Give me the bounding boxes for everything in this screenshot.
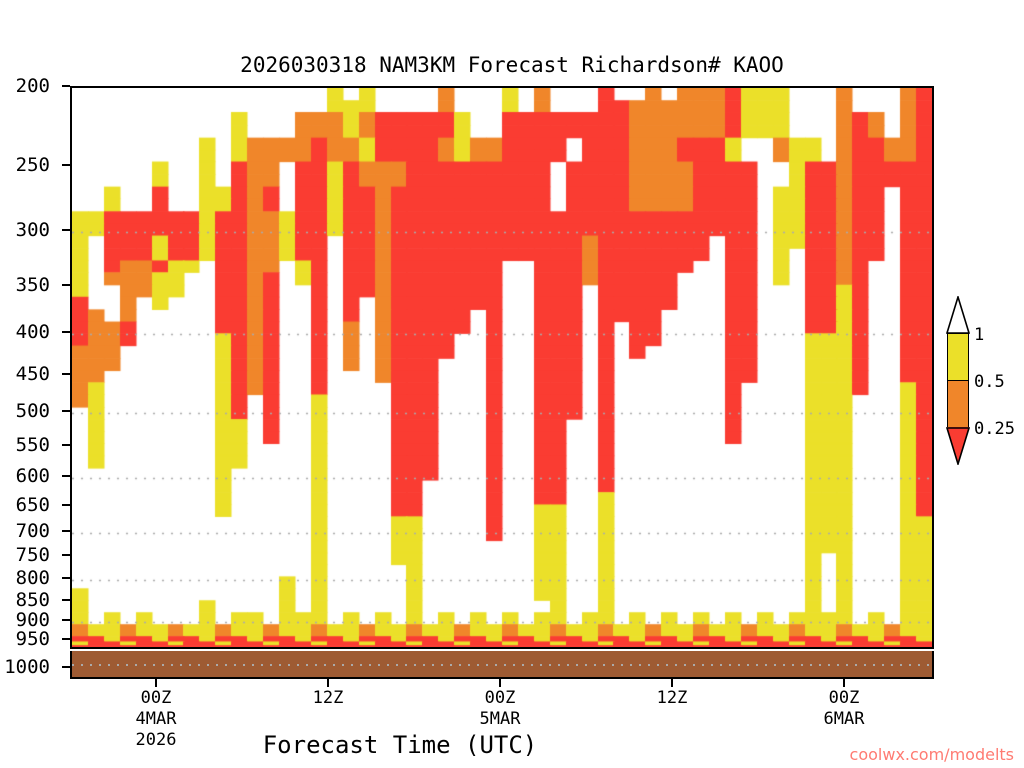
x-axis-tick-label: 00Z6MAR (824, 688, 865, 730)
y-axis-tick-mark (62, 475, 70, 477)
x-axis-tick-label: 00Z5MAR (480, 688, 521, 730)
y-axis-tick-mark (62, 666, 70, 668)
y-axis-tick-mark (62, 444, 70, 446)
y-axis-tick-mark (62, 554, 70, 556)
colorbar-top-arrow-outline (946, 296, 970, 334)
y-axis-tick-label: 600 (16, 465, 50, 487)
x-axis-tick-time: 12Z (313, 688, 344, 709)
y-axis-tick-label: 550 (16, 434, 50, 456)
y-axis-tick-label: 950 (16, 628, 50, 650)
x-axis-tick-time: 00Z (824, 688, 865, 709)
y-axis-tick-mark (62, 577, 70, 579)
x-axis-tick-time: 00Z (136, 688, 177, 709)
x-axis-tick-mark (155, 679, 157, 687)
x-axis-tick-label: 12Z (313, 688, 344, 709)
x-axis-tick-time: 00Z (480, 688, 521, 709)
y-axis-tick-mark (62, 410, 70, 412)
colorbar-divider (947, 380, 969, 381)
colorbar-tick-label: 0.25 (974, 419, 1015, 439)
colorbar-divider (947, 333, 969, 334)
terrain-gridline (72, 664, 932, 666)
x-axis-tick-year: 2026 (136, 730, 177, 751)
y-axis-tick-label: 250 (16, 154, 50, 176)
y-axis-tick-mark (62, 638, 70, 640)
colorbar-legend: 10.50.25 (930, 296, 1024, 486)
y-axis-tick-label: 750 (16, 544, 50, 566)
y-axis-tick-mark (62, 164, 70, 166)
x-axis-tick-mark (843, 679, 845, 687)
y-axis-tick-label: 450 (16, 363, 50, 385)
x-axis-tick-mark (327, 679, 329, 687)
y-axis-tick-mark (62, 530, 70, 532)
colorbar-segment-0.5-1 (947, 333, 969, 380)
page-title: 2026030318 NAM3KM Forecast Richardson# K… (0, 53, 1024, 77)
y-axis-tick-label: 500 (16, 400, 50, 422)
plot-area (70, 86, 934, 649)
y-axis-tick-label: 850 (16, 589, 50, 611)
y-axis-tick-mark (62, 373, 70, 375)
x-axis-tick-date: 6MAR (824, 709, 865, 730)
y-axis-tick-label: 400 (16, 321, 50, 343)
y-axis-tick-label: 200 (16, 75, 50, 97)
y-axis-tick-label: 300 (16, 219, 50, 241)
y-axis-tick-mark (62, 85, 70, 87)
x-axis-tick-time: 12Z (657, 688, 688, 709)
richardson-heatmap (72, 88, 932, 647)
y-axis-tick-label: 800 (16, 567, 50, 589)
y-axis-tick-label: 1000 (4, 656, 50, 678)
x-axis-tick-date: 5MAR (480, 709, 521, 730)
colorbar-tick-label: 0.5 (974, 372, 1005, 392)
y-axis: 2002503003504004505005506006507007508008… (0, 0, 62, 768)
colorbar-tick-label: 1 (974, 325, 984, 345)
colorbar-segment-0.25-0.5 (947, 380, 969, 427)
x-axis-tick-label: 00Z4MAR2026 (136, 688, 177, 751)
x-axis-tick-mark (671, 679, 673, 687)
y-axis-tick-label: 350 (16, 274, 50, 296)
y-axis-tick-label: 650 (16, 494, 50, 516)
x-axis-tick-label: 12Z (657, 688, 688, 709)
x-axis-tick-date: 4MAR (136, 709, 177, 730)
colorbar-bottom-arrow-outline (946, 427, 970, 465)
y-axis-tick-mark (62, 504, 70, 506)
y-axis-tick-label: 700 (16, 520, 50, 542)
y-axis-tick-mark (62, 599, 70, 601)
y-axis-tick-mark (62, 229, 70, 231)
y-axis-tick-mark (62, 284, 70, 286)
x-axis-tick-mark (499, 679, 501, 687)
y-axis-tick-mark (62, 331, 70, 333)
y-axis-tick-mark (62, 619, 70, 621)
